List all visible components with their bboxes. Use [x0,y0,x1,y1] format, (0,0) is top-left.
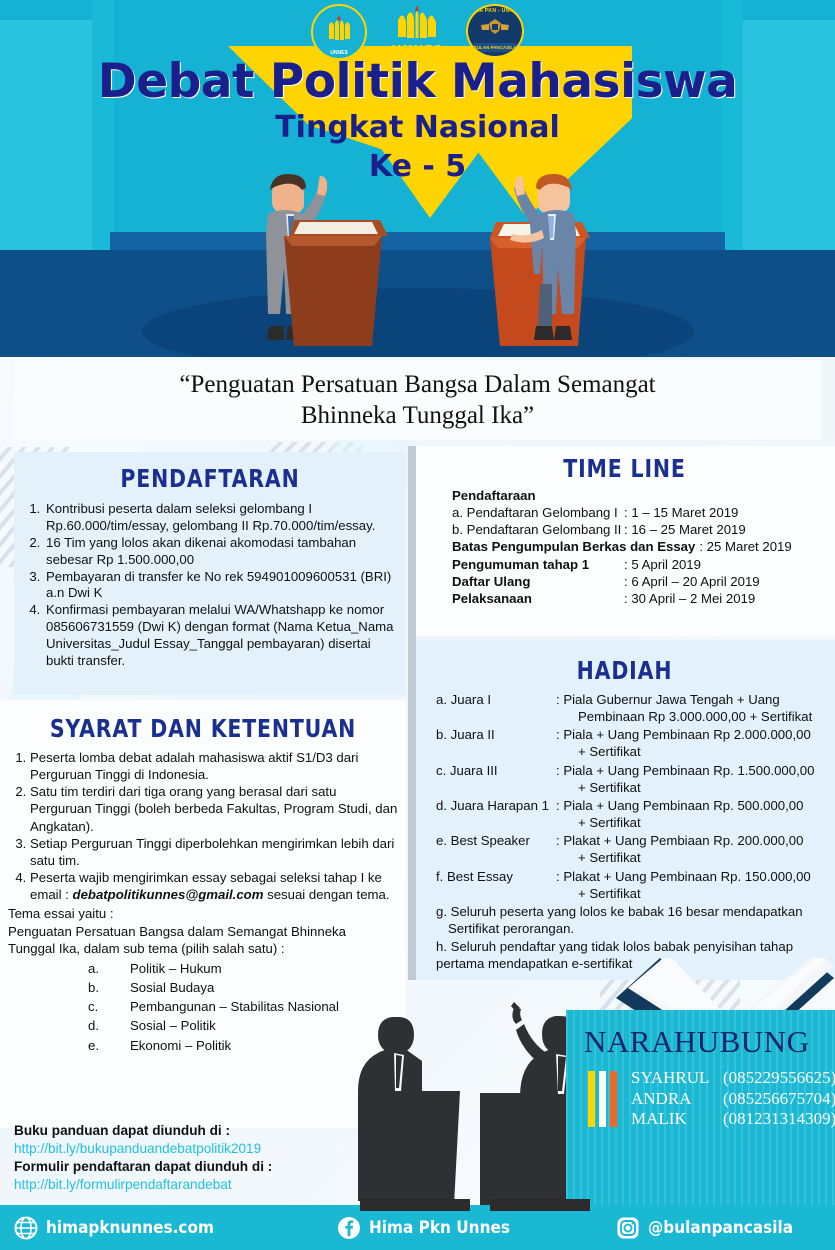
narahubung-box: NARAHUBUNG SYAHRUL (085229556625) ANDRA … [566,1010,835,1206]
tema-line-2: Tunggal Ika, dalam sub tema (pilih salah… [8,940,398,957]
guide-label: Buku panduan dapat diunduh di : [14,1122,344,1140]
globe-icon [14,1216,38,1240]
timeline-body: Pendaftaraan a. Pendaftaran Gelombang I … [414,483,835,607]
subtema-letter: e. [88,1036,130,1055]
timeline-row: a. Pendaftaran Gelombang I : 1 – 15 Mare… [452,504,835,521]
list-item: 16 Tim yang lolos akan dikenai akomodasi… [44,535,396,569]
podium-left-illustration [278,220,388,350]
unnes-round-logo-caption: UNNES [313,50,365,56]
theme-line-2: Bhinneka Tunggal Ika” [301,402,534,429]
timeline-row-label: Daftar Ulang [452,573,624,590]
prize-value-cont: + Sertifikat [556,779,825,796]
timeline-subheading: Pendaftaraan [452,487,835,504]
timeline-row-value: : 16 – 25 Maret 2019 [624,521,746,538]
syarat-heading: SYARAT DAN KETENTUAN [37,700,370,743]
contact-row: MALIK (081231314309) [631,1109,835,1130]
list-item: Konfirmasi pembayaran melalui WA/Whatsha… [44,602,396,670]
unnes-flame-glyph [392,4,442,40]
narahubung-contacts: SYAHRUL (085229556625) ANDRA (0852566757… [588,1068,835,1130]
debater-right-illustration [496,168,614,350]
title-main: Debat Politik Mahasiswa [0,58,835,105]
prize-value-cont: + Sertifikat [556,743,825,760]
tema-line-1: Penguatan Persatuan Bangsa dalam Semanga… [8,923,398,940]
column-divider [408,446,416,980]
syarat-email: debatpolitikunnes@gmail.com [73,887,264,902]
form-label: Formulir pendaftaran dapat diunduh di : [14,1158,344,1176]
form-link[interactable]: http://bit.ly/formulirpendaftarandebat [14,1176,344,1194]
prize-value: : Plakat + Uang Pembiaan Rp. 200.000,00 [556,833,803,848]
prize-row: a. Juara I : Piala Gubernur Jawa Tengah … [436,691,825,725]
prize-key: b. Juara II [436,726,556,760]
poster-root: UNNES UNNES HIMA [0,0,835,1250]
debater-silhouette-left [352,1005,462,1205]
footer-website[interactable]: himapknunnes.com [14,1205,233,1250]
theme-line-1: “Penguatan Persatuan Bangsa Dalam Semang… [179,371,655,398]
hadiah-body: a. Juara I : Piala Gubernur Jawa Tengah … [414,685,835,973]
timeline-row: Pelaksanaan : 30 April – 2 Mei 2019 [452,590,835,607]
table-row: b. Sosial Budaya [88,978,339,997]
contact-name: MALIK [631,1109,723,1130]
table-row: a. Politik – Hukum [88,959,339,978]
timeline-row: b. Pendaftaran Gelombang II : 16 – 25 Ma… [452,521,835,538]
download-links: Buku panduan dapat diunduh di : http://b… [14,1122,344,1194]
logo-row: UNNES UNNES HIMA [0,4,835,60]
list-item: Satu tim terdiri dari tiga orang yang be… [30,783,398,834]
hima-logo-top-text: HIMA PKN - UNNES [468,8,522,14]
prize-value-cont: + Sertifikat [556,814,825,831]
contact-row: SYAHRUL (085229556625) [631,1068,835,1089]
prize-value: : Piala + Uang Pembinaan Rp 2.000.000,00 [556,727,811,742]
contact-phone: (081231314309) [723,1109,835,1130]
subtema-letter: a. [88,959,130,978]
prize-row: e. Best Speaker : Plakat + Uang Pembiaan… [436,832,825,866]
facebook-icon [337,1216,361,1240]
prize-note-main: g. Seluruh peserta yang lolos ke babak 1… [436,904,803,919]
timeline-row: Daftar Ulang : 6 April – 20 April 2019 [452,573,835,590]
list-item: Pembayaran di transfer ke No rek 5949010… [44,569,396,603]
subtema-letter: b. [88,978,130,997]
footer-bar: himapknunnes.com Hima Pkn Unnes @bulanpa… [0,1205,835,1250]
prize-value: : Piala + Uang Pembinaan Rp. 1.500.000,0… [556,763,814,778]
header-banner: UNNES UNNES HIMA [0,0,835,357]
prize-row: f. Best Essay : Plakat + Uang Pembinaan … [436,868,825,902]
prize-row: b. Juara II : Piala + Uang Pembinaan Rp … [436,726,825,760]
title-sub: Tingkat Nasional [0,111,835,144]
subtema-text: Sosial Budaya [130,978,339,997]
list-item: Kontribusi peserta dalam seleksi gelomba… [44,501,396,535]
footer-website-text: himapknunnes.com [46,1218,214,1238]
contact-name: SYAHRUL [631,1068,723,1089]
tema-label: Tema essai yaitu : [8,905,398,922]
subtema-text: Politik – Hukum [130,959,339,978]
subtema-text: Sosial – Politik [130,1016,339,1035]
contact-name: ANDRA [631,1089,723,1110]
prize-key: d. Juara Harapan 1 [436,797,556,831]
timeline-row-label: b. Pendaftaran Gelombang II [452,521,624,538]
prize-value: : Piala + Uang Pembinaan Rp. 500.000,00 [556,798,803,813]
timeline-row: Pengumuman tahap 1 : 5 April 2019 [452,556,835,573]
pendaftaran-list: Kontribusi peserta dalam seleksi gelomba… [14,501,406,670]
footer-instagram[interactable]: @bulanpancasila [616,1205,809,1250]
list-item: Setiap Perguruan Tinggi diperbolehkan me… [30,835,398,869]
timeline-row: Batas Pengumpulan Berkas dan Essay : 25 … [452,538,835,555]
prize-key: c. Juara III [436,762,556,796]
pendaftaran-panel: PENDAFTARAN Kontribusi peserta dalam sel… [14,452,406,695]
prize-note-main: h. Seluruh pendaftar yang tidak lolos ba… [436,939,793,954]
prize-value-cont: Pembinaan Rp 3.000.000,00 + Sertifikat [556,708,825,725]
contact-row: ANDRA (085256675704) [631,1089,835,1110]
syarat-panel: SYARAT DAN KETENTUAN Peserta lomba debat… [0,700,406,1128]
prize-row: c. Juara III : Piala + Uang Pembinaan Rp… [436,762,825,796]
list-item: Peserta lomba debat adalah mahasiswa akt… [30,749,398,783]
garuda-glyph [479,17,511,41]
timeline-row-label: Batas Pengumpulan Berkas dan Essay [452,538,699,555]
syarat-list: Peserta lomba debat adalah mahasiswa akt… [8,749,398,903]
timeline-row-value: : 25 Maret 2019 [699,538,791,555]
subtema-text: Ekonomi – Politik [130,1036,339,1055]
prize-value: : Plakat + Uang Pembinaan Rp. 150.000,00 [556,869,811,884]
unnes-flame-logo-icon: UNNES [392,4,442,52]
table-row: c. Pembangunan – Stabilitas Nasional [88,997,339,1016]
subtema-letter: d. [88,1016,130,1035]
prize-key: f. Best Essay [436,868,556,902]
footer-facebook[interactable]: Hima Pkn Unnes [337,1205,526,1250]
contact-phone: (085256675704) [723,1089,835,1110]
instagram-icon [616,1216,640,1240]
hadiah-panel: HADIAH a. Juara I : Piala Gubernur Jawa … [414,640,835,980]
prize-note: g. Seluruh peserta yang lolos ke babak 1… [436,903,825,937]
hadiah-heading: HADIAH [452,640,797,685]
prize-note-cont: Sertifikat perorangan. [436,920,825,937]
flag-bars-icon [588,1071,621,1127]
hima-logo-band-text: BULAN PANCASILA [472,43,518,52]
subtema-table: a. Politik – Hukum b. Sosial Budaya c. P… [88,959,339,1055]
timeline-row-value: : 1 – 15 Maret 2019 [624,504,738,521]
syarat-body: Peserta lomba debat adalah mahasiswa akt… [0,743,406,1055]
prize-value-cont: + Sertifikat [556,849,825,866]
poster-title-block: Debat Politik Mahasiswa Tingkat Nasional… [0,58,835,183]
list-item: Peserta wajib mengirimkan essay sebagai … [30,869,398,903]
hima-pkn-unnes-logo-icon: HIMA PKN - UNNES BULAN PANCASILA [466,4,524,58]
theme-statement: “Penguatan Persatuan Bangsa Dalam Semang… [14,360,821,440]
timeline-row-label: Pengumuman tahap 1 [452,556,624,573]
timeline-row-value: : 30 April – 2 Mei 2019 [624,590,755,607]
contact-phone: (085229556625) [723,1068,835,1089]
prize-key: a. Juara I [436,691,556,725]
dark-tab-1 [360,1199,470,1211]
footer-facebook-text: Hima Pkn Unnes [369,1218,510,1238]
unnes-round-logo-icon: UNNES [311,4,367,60]
subtema-letter: c. [88,997,130,1016]
syarat-item4-post: sesuai dengan tema. [263,887,389,902]
prize-value: : Piala Gubernur Jawa Tengah + Uang [556,692,780,707]
pendaftaran-heading: PENDAFTARAN [49,452,370,493]
timeline-heading: TIME LINE [452,446,797,483]
timeline-row-value: : 5 April 2019 [624,556,701,573]
dark-tab-2 [490,1199,590,1211]
table-row: d. Sosial – Politik [88,1016,339,1035]
subtema-text: Pembangunan – Stabilitas Nasional [130,997,339,1016]
timeline-row-label: Pelaksanaan [452,590,624,607]
timeline-row-label: a. Pendaftaran Gelombang I [452,504,624,521]
timeline-panel: TIME LINE Pendaftaraan a. Pendaftaran Ge… [414,446,835,636]
prize-row: d. Juara Harapan 1 : Piala + Uang Pembin… [436,797,825,831]
prize-value-cont: + Sertifikat [556,885,825,902]
title-edition: Ke - 5 [0,150,835,183]
table-row: e. Ekonomi – Politik [88,1036,339,1055]
guide-link[interactable]: http://bit.ly/bukupanduandebatpolitik201… [14,1140,344,1158]
hima-logo-band: BULAN PANCASILA [472,43,518,52]
footer-instagram-text: @bulanpancasila [648,1218,793,1238]
unnes-torch-glyph [325,13,353,43]
prize-key: e. Best Speaker [436,832,556,866]
unnes-flame-logo-caption: UNNES [392,43,442,57]
timeline-row-value: : 6 April – 20 April 2019 [624,573,760,590]
narahubung-heading: NARAHUBUNG [584,1024,835,1060]
